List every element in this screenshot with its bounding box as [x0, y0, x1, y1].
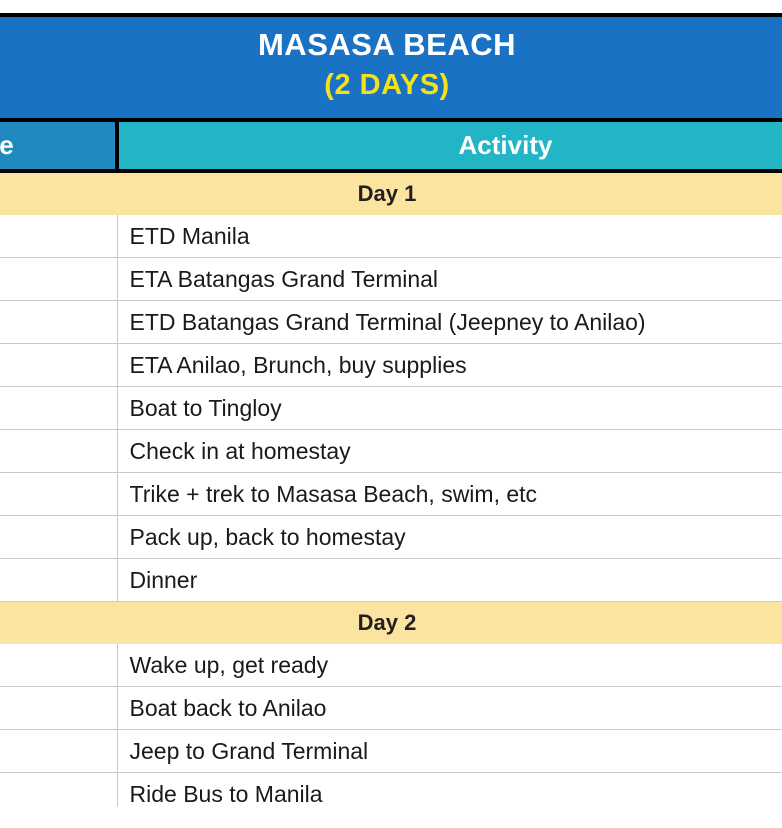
cell-time[interactable]: PM: [0, 559, 117, 602]
cell-time[interactable]: AM: [0, 344, 117, 387]
cell-activity[interactable]: ETD Manila: [117, 215, 782, 258]
table-row[interactable]: AM ETA Batangas Grand Terminal: [0, 258, 782, 301]
sheet-viewport[interactable]: MASASA BEACH (2 DAYS) ne Activity Day 1 …: [0, 13, 782, 807]
cell-time[interactable]: AM: [0, 301, 117, 344]
cell-time[interactable]: AM: [0, 473, 117, 516]
table-row[interactable]: 0 AM Ride Bus to Manila: [0, 773, 782, 807]
cell-time[interactable]: 0 AM: [0, 773, 117, 807]
day-band-label: Day 1: [0, 171, 782, 215]
page-subtitle: (2 DAYS): [0, 67, 782, 105]
table-row[interactable]: AM Wake up, get ready: [0, 644, 782, 687]
cell-activity[interactable]: ETA Anilao, Brunch, buy supplies: [117, 344, 782, 387]
cell-time[interactable]: 0 AM: [0, 387, 117, 430]
cell-activity[interactable]: Boat to Tingloy: [117, 387, 782, 430]
cell-activity[interactable]: Boat back to Anilao: [117, 687, 782, 730]
cell-activity[interactable]: Check in at homestay: [117, 430, 782, 473]
table-row[interactable]: AM Check in at homestay: [0, 430, 782, 473]
table-row[interactable]: AM ETA Anilao, Brunch, buy supplies: [0, 344, 782, 387]
table-row[interactable]: PM Pack up, back to homestay: [0, 516, 782, 559]
day-band-label: Day 2: [0, 602, 782, 645]
cell-activity[interactable]: Trike + trek to Masasa Beach, swim, etc: [117, 473, 782, 516]
cell-activity[interactable]: Pack up, back to homestay: [117, 516, 782, 559]
table-row[interactable]: 0 AM Boat to Tingloy: [0, 387, 782, 430]
itinerary-table: MASASA BEACH (2 DAYS) ne Activity Day 1 …: [0, 13, 782, 807]
cell-activity[interactable]: Wake up, get ready: [117, 644, 782, 687]
cell-activity[interactable]: Ride Bus to Manila: [117, 773, 782, 807]
cell-activity[interactable]: ETA Batangas Grand Terminal: [117, 258, 782, 301]
page-title: MASASA BEACH: [0, 26, 782, 65]
table-row[interactable]: AM ETD Manila: [0, 215, 782, 258]
table-row[interactable]: AM ETD Batangas Grand Terminal (Jeepney …: [0, 301, 782, 344]
table-row[interactable]: AM Trike + trek to Masasa Beach, swim, e…: [0, 473, 782, 516]
cell-time[interactable]: AM: [0, 258, 117, 301]
cell-activity[interactable]: Dinner: [117, 559, 782, 602]
title-band: MASASA BEACH (2 DAYS): [0, 15, 782, 120]
cell-time[interactable]: AM: [0, 730, 117, 773]
day-band-row: Day 1: [0, 171, 782, 215]
column-header-row: ne Activity: [0, 120, 782, 171]
table-row[interactable]: AM Jeep to Grand Terminal: [0, 730, 782, 773]
cell-time[interactable]: AM: [0, 687, 117, 730]
column-header-activity[interactable]: Activity: [117, 120, 782, 171]
title-row: MASASA BEACH (2 DAYS): [0, 15, 782, 120]
cell-time[interactable]: AM: [0, 215, 117, 258]
table-row[interactable]: PM Dinner: [0, 559, 782, 602]
cell-time[interactable]: AM: [0, 644, 117, 687]
table-body: MASASA BEACH (2 DAYS) ne Activity Day 1 …: [0, 15, 782, 807]
table-row[interactable]: AM Boat back to Anilao: [0, 687, 782, 730]
cell-time[interactable]: PM: [0, 516, 117, 559]
cell-time[interactable]: AM: [0, 430, 117, 473]
column-header-time[interactable]: ne: [0, 120, 117, 171]
cell-activity[interactable]: ETD Batangas Grand Terminal (Jeepney to …: [117, 301, 782, 344]
cell-activity[interactable]: Jeep to Grand Terminal: [117, 730, 782, 773]
day-band-row: Day 2: [0, 602, 782, 645]
